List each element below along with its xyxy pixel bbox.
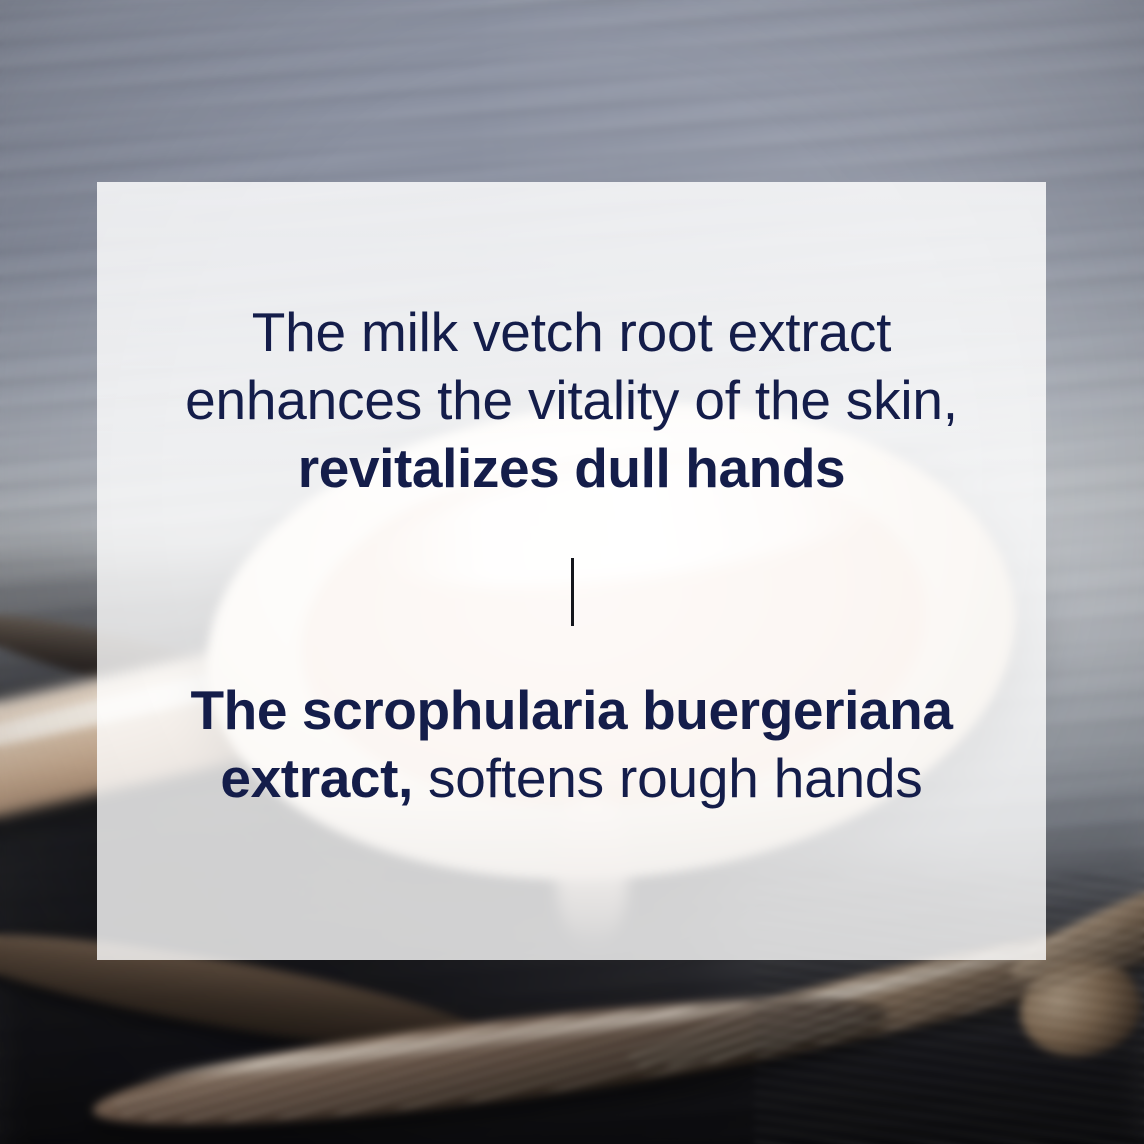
promo-graphic: The milk vetch root extract enhances the… — [0, 0, 1144, 1144]
bottom-line-1-emphasis: The scrophularia buergeriana — [190, 679, 952, 741]
text-panel: The milk vetch root extract enhances the… — [97, 182, 1046, 960]
bottom-line-2-emphasis: extract, — [220, 747, 412, 809]
top-line-3-emphasis: revitalizes dull hands — [97, 434, 1046, 502]
vertical-rule-icon — [571, 558, 574, 626]
top-line-2: enhances the vitality of the skin, — [97, 366, 1046, 434]
bottom-line-1: The scrophularia buergeriana — [97, 676, 1046, 744]
bottom-line-2: extract, softens rough hands — [97, 744, 1046, 812]
top-line-1: The milk vetch root extract — [97, 298, 1046, 366]
benefit-block-top: The milk vetch root extract enhances the… — [97, 298, 1046, 502]
benefit-block-bottom: The scrophularia buergeriana extract, so… — [97, 676, 1046, 812]
bottom-line-2-rest: softens rough hands — [413, 747, 923, 809]
